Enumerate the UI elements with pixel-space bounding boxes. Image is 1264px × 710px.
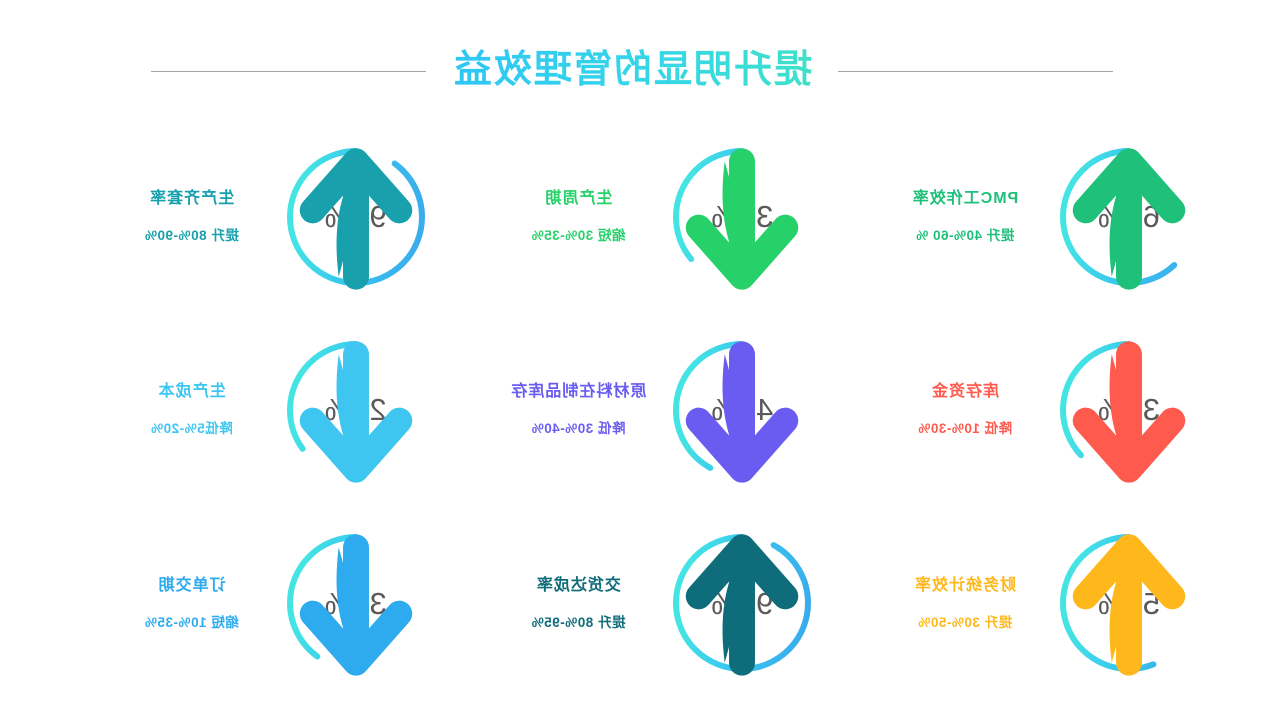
ring-center-order-lead-time: 35% — [281, 528, 431, 678]
arrow-down-icon — [667, 144, 817, 294]
metric-label-pmc-efficiency: PMC工作效率 — [912, 191, 1019, 207]
progress-ring-pmc-efficiency: 60% — [1054, 142, 1204, 292]
metric-card-raw-material-wip-inventory: 40%原材料在制品库存降低 30%-40% — [439, 313, 826, 506]
progress-ring-raw-material-wip-inventory: 40% — [667, 335, 817, 485]
metric-text-finance-stat-efficiency: 财务统计效率提升 30%-50% — [890, 578, 1040, 630]
metric-text-inventory-capital: 库存资金降低 10%-30% — [890, 384, 1040, 436]
metric-text-order-lead-time: 订单交期缩短 10%-35% — [117, 578, 267, 630]
metric-label-production-kitting-rate: 生产齐套率 — [149, 191, 234, 207]
metric-card-delivery-achievement-rate: 95%交货达成率提升 80%-95% — [439, 507, 826, 700]
progress-ring-finance-stat-efficiency: 50% — [1054, 528, 1204, 678]
metric-card-grid: 60%PMC工作效率提升 40%-60 %35%生产周期缩短 30%-35%90… — [52, 120, 1212, 700]
metric-label-order-lead-time: 订单交期 — [158, 578, 226, 594]
slide-header: 提升明显的管理效益 — [0, 40, 1264, 102]
metric-text-production-cost: 生产成本降低5%-20% — [117, 384, 267, 436]
metric-range-finance-stat-efficiency: 提升 30%-50% — [918, 616, 1012, 630]
arrow-down-icon — [667, 337, 817, 487]
ring-center-pmc-efficiency: 60% — [1054, 142, 1204, 292]
title-rule-left — [838, 71, 1113, 72]
ring-center-delivery-achievement-rate: 95% — [667, 528, 817, 678]
metric-label-finance-stat-efficiency: 财务统计效率 — [914, 578, 1016, 594]
progress-ring-production-cost: 20% — [281, 335, 431, 485]
metric-card-production-kitting-rate: 90%生产齐套率提升 80%-90% — [52, 120, 439, 313]
slide-stage: 提升明显的管理效益 60%PMC工作效率提升 40%-60 %35%生产周期缩短… — [0, 0, 1264, 710]
metric-card-pmc-efficiency: 60%PMC工作效率提升 40%-60 % — [825, 120, 1212, 313]
ring-center-production-cycle: 35% — [667, 142, 817, 292]
metric-range-order-lead-time: 缩短 10%-35% — [145, 616, 239, 630]
metric-range-production-cycle: 缩短 30%-35% — [531, 229, 625, 243]
metric-text-raw-material-wip-inventory: 原材料在制品库存降低 30%-40% — [503, 384, 653, 436]
metric-card-production-cost: 20%生产成本降低5%-20% — [52, 313, 439, 506]
progress-ring-production-cycle: 35% — [667, 142, 817, 292]
metric-text-pmc-efficiency: PMC工作效率提升 40%-60 % — [890, 191, 1040, 243]
metric-range-inventory-capital: 降低 10%-30% — [918, 422, 1012, 436]
metric-card-order-lead-time: 35%订单交期缩短 10%-35% — [52, 507, 439, 700]
metric-range-pmc-efficiency: 提升 40%-60 % — [916, 229, 1015, 243]
metric-range-production-cost: 降低5%-20% — [151, 422, 233, 436]
progress-ring-delivery-achievement-rate: 95% — [667, 528, 817, 678]
metric-range-delivery-achievement-rate: 提升 80%-95% — [531, 616, 625, 630]
metric-card-finance-stat-efficiency: 50%财务统计效率提升 30%-50% — [825, 507, 1212, 700]
ring-center-finance-stat-efficiency: 50% — [1054, 528, 1204, 678]
progress-ring-production-kitting-rate: 90% — [281, 142, 431, 292]
ring-center-production-cost: 20% — [281, 335, 431, 485]
metric-range-production-kitting-rate: 提升 80%-90% — [145, 229, 239, 243]
metric-text-production-cycle: 生产周期缩短 30%-35% — [503, 191, 653, 243]
metric-label-delivery-achievement-rate: 交货达成率 — [536, 578, 621, 594]
metric-label-production-cost: 生产成本 — [158, 384, 226, 400]
ring-center-production-kitting-rate: 90% — [281, 142, 431, 292]
metric-text-production-kitting-rate: 生产齐套率提升 80%-90% — [117, 191, 267, 243]
arrow-down-icon — [281, 530, 431, 680]
arrow-up-icon — [281, 144, 431, 294]
arrow-down-icon — [1054, 337, 1204, 487]
metric-label-inventory-capital: 库存资金 — [931, 384, 999, 400]
title-rule-right — [151, 71, 426, 72]
metric-card-production-cycle: 35%生产周期缩短 30%-35% — [439, 120, 826, 313]
metric-label-raw-material-wip-inventory: 原材料在制品库存 — [510, 384, 646, 400]
page-title: 提升明显的管理效益 — [452, 46, 812, 96]
progress-ring-order-lead-time: 35% — [281, 528, 431, 678]
metric-text-delivery-achievement-rate: 交货达成率提升 80%-95% — [503, 578, 653, 630]
arrow-up-icon — [667, 530, 817, 680]
ring-center-inventory-capital: 30% — [1054, 335, 1204, 485]
metric-label-production-cycle: 生产周期 — [544, 191, 612, 207]
arrow-up-icon — [1054, 144, 1204, 294]
arrow-down-icon — [281, 337, 431, 487]
progress-ring-inventory-capital: 30% — [1054, 335, 1204, 485]
ring-center-raw-material-wip-inventory: 40% — [667, 335, 817, 485]
metric-card-inventory-capital: 30%库存资金降低 10%-30% — [825, 313, 1212, 506]
metric-range-raw-material-wip-inventory: 降低 30%-40% — [531, 422, 625, 436]
arrow-up-icon — [1054, 530, 1204, 680]
